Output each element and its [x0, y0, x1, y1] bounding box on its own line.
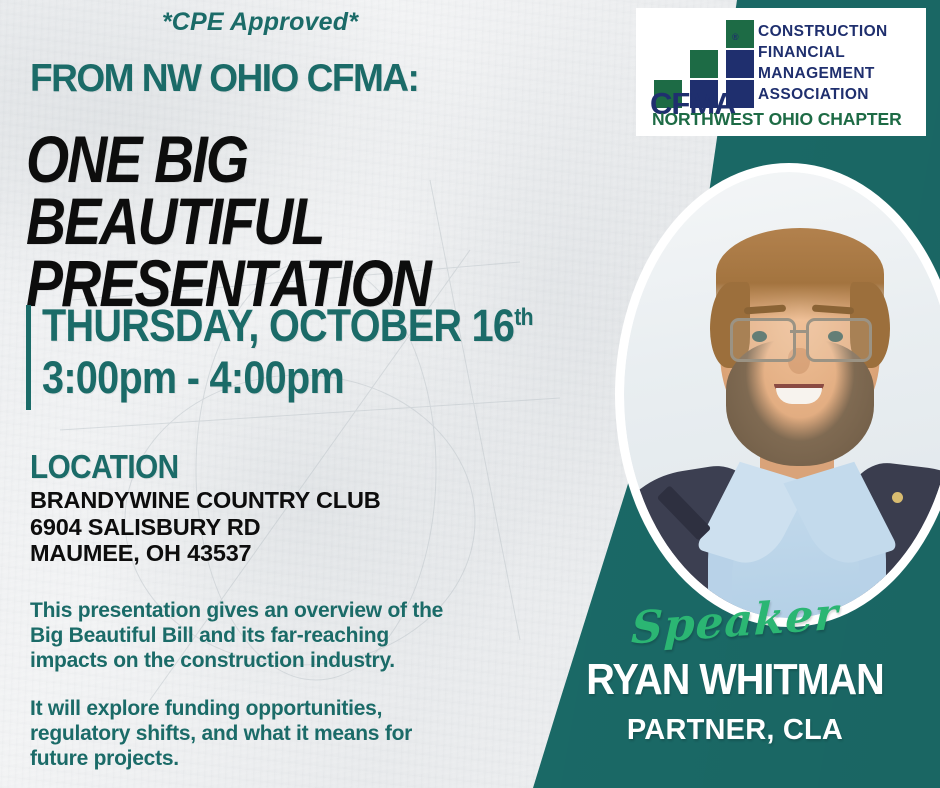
speaker-photo — [624, 172, 940, 618]
description-p1-line-2: Big Beautiful Bill and its far-reaching — [30, 623, 530, 648]
title-line-1: ONE BIG BEAUTIFUL — [26, 128, 530, 252]
speaker-headshot-circle — [624, 172, 940, 618]
location-label: LOCATION — [30, 448, 179, 486]
from-chapter-heading: FROM NW OHIO CFMA: — [30, 57, 418, 101]
date-ordinal-suffix: th — [514, 304, 533, 331]
description-p2-line-2: regulatory shifts, and what it means for — [30, 721, 530, 746]
logo-block-green-1 — [726, 20, 754, 48]
eyeglasses-bridge — [790, 330, 808, 333]
description-text: This presentation gives an overview of t… — [30, 598, 530, 771]
description-p1-line-1: This presentation gives an overview of t… — [30, 598, 530, 623]
paragraph-gap — [30, 673, 530, 696]
cfma-name-line-1: CONSTRUCTION — [758, 21, 888, 42]
street-address: 6904 SALISBURY RD — [30, 514, 381, 541]
speaker-label: Speaker — [630, 589, 839, 655]
page-title: ONE BIG BEAUTIFUL PRESENTATION — [26, 128, 530, 314]
logo-block-navy-1 — [726, 50, 754, 78]
event-datetime: THURSDAY, OCTOBER 16th 3:00pm - 4:00pm — [42, 300, 600, 404]
cfma-name-line-2: FINANCIAL — [758, 42, 888, 63]
event-date: THURSDAY, OCTOBER 16th — [42, 300, 533, 352]
cfma-name-line-4: ASSOCIATION — [758, 84, 888, 105]
cpe-approved-badge: *CPE Approved* — [0, 8, 520, 37]
date-accent-bar — [26, 305, 31, 410]
venue-name: BRANDYWINE COUNTRY CLUB — [30, 487, 381, 514]
description-p2-line-3: future projects. — [30, 746, 530, 771]
eyeglasses-left-lens — [730, 318, 796, 362]
cfma-name-line-3: MANAGEMENT — [758, 63, 888, 84]
cfma-logo-blocks: ® — [654, 20, 754, 88]
description-p2-line-1: It will explore funding opportunities, — [30, 696, 530, 721]
cfma-full-name: CONSTRUCTION FINANCIAL MANAGEMENT ASSOCI… — [758, 21, 888, 105]
event-flyer: ® CFMA CONSTRUCTION FINANCIAL MANAGEMENT… — [0, 0, 940, 788]
speaker-role: PARTNER, CLA — [530, 714, 940, 747]
event-time: 3:00pm - 4:00pm — [42, 352, 533, 404]
logo-block-green-2 — [690, 50, 718, 78]
eyeglasses-right-lens — [806, 318, 872, 362]
city-state-zip: MAUMEE, OH 43537 — [30, 540, 381, 567]
speaker-block: Speaker RYAN WHITMAN PARTNER, CLA — [530, 596, 940, 747]
registered-trademark-icon: ® — [732, 32, 739, 42]
cfma-logo-card: ® CFMA CONSTRUCTION FINANCIAL MANAGEMENT… — [636, 8, 926, 136]
lapel-pin-icon — [892, 492, 903, 503]
description-p1-line-3: impacts on the construction industry. — [30, 648, 530, 673]
cfma-chapter-name: NORTHWEST OHIO CHAPTER — [652, 109, 902, 130]
location-address: BRANDYWINE COUNTRY CLUB 6904 SALISBURY R… — [30, 487, 381, 567]
speaker-name: RYAN WHITMAN — [551, 655, 920, 705]
